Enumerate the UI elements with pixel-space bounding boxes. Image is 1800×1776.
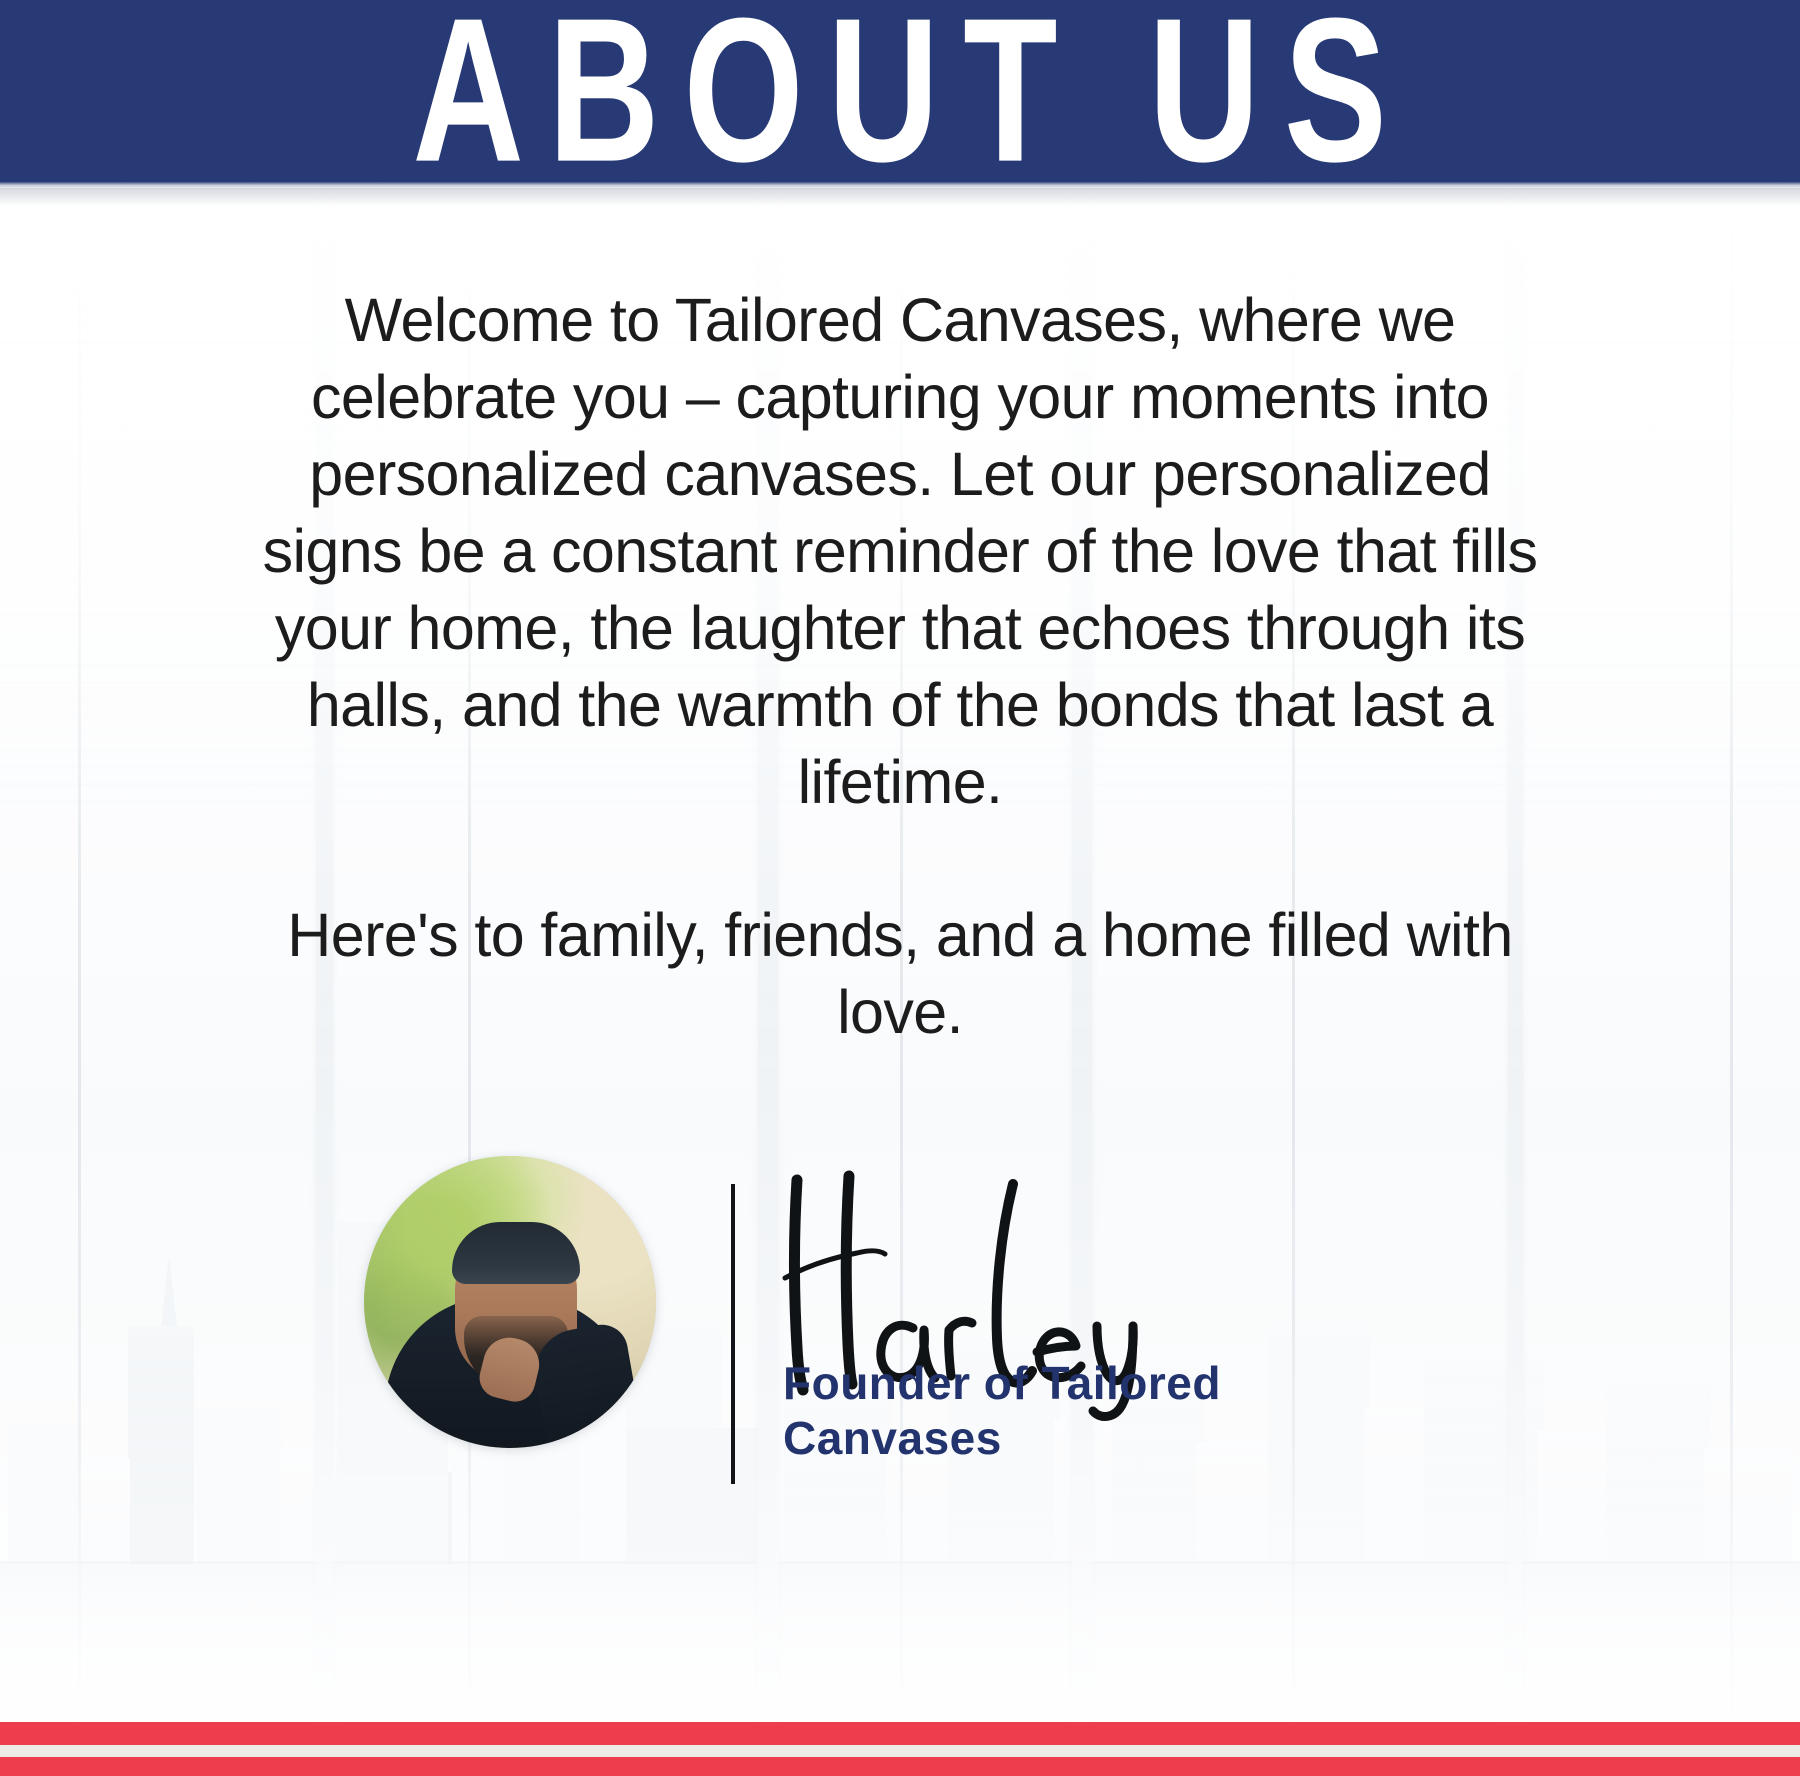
avatar <box>364 1156 656 1448</box>
about-copy: Welcome to Tailored Canvases, where we c… <box>245 282 1555 1051</box>
page-title: ABOUT US <box>389 0 1411 183</box>
founder-role: Founder of Tailored Canvases <box>783 1356 1303 1466</box>
banner-underline <box>0 182 1800 188</box>
about-us-poster: ABOUT US Welcome to Tailored Canvases, w… <box>0 0 1800 1776</box>
footer-accent-gap <box>0 1745 1800 1757</box>
signature-block: Founder of Tailored Canvases <box>0 1156 1800 1516</box>
avatar-hair <box>452 1222 580 1284</box>
footer-accent-bar-top <box>0 1722 1800 1745</box>
header-banner: ABOUT US <box>0 0 1800 182</box>
paragraph-spacer <box>245 821 1555 897</box>
paragraph-2: Here's to family, friends, and a home fi… <box>245 897 1555 1051</box>
avatar-photo <box>364 1156 656 1448</box>
footer-accent-bar-bottom <box>0 1757 1800 1776</box>
paragraph-1: Welcome to Tailored Canvases, where we c… <box>245 282 1555 821</box>
signature-divider <box>731 1184 735 1484</box>
founder-role-line-2: Canvases <box>783 1411 1303 1466</box>
founder-role-line-1: Founder of Tailored <box>783 1356 1303 1411</box>
